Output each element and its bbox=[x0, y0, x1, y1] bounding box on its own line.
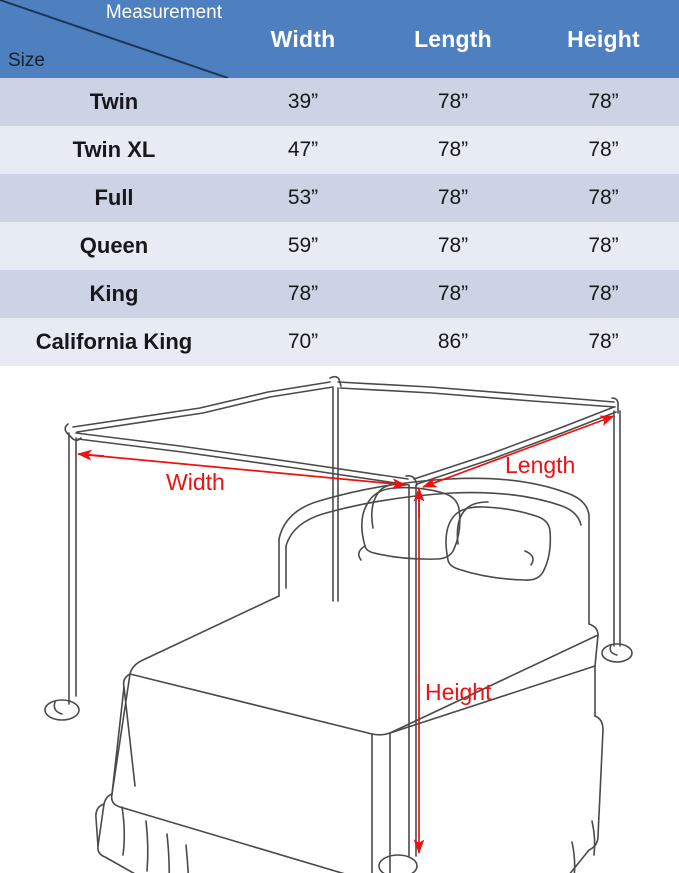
cell-length: 86” bbox=[378, 318, 528, 366]
cell-size: Queen bbox=[0, 222, 228, 270]
cell-height: 78” bbox=[528, 78, 679, 126]
bed-diagram-svg: Width Length Height bbox=[0, 366, 679, 873]
cell-height: 78” bbox=[528, 318, 679, 366]
cell-width: 47” bbox=[228, 126, 378, 174]
table-row: Queen 59” 78” 78” bbox=[0, 222, 679, 270]
table-row: King 78” 78” 78” bbox=[0, 270, 679, 318]
header-measurement-label: Measurement bbox=[106, 3, 222, 24]
cell-length: 78” bbox=[378, 174, 528, 222]
cell-width: 59” bbox=[228, 222, 378, 270]
cell-length: 78” bbox=[378, 222, 528, 270]
cell-size: Full bbox=[0, 174, 228, 222]
cell-width: 78” bbox=[228, 270, 378, 318]
bed-size-table: Measurement Size Width Length Height Twi… bbox=[0, 0, 679, 366]
cell-height: 78” bbox=[528, 270, 679, 318]
cell-size: King bbox=[0, 270, 228, 318]
bed-diagram: Width Length Height bbox=[0, 366, 679, 873]
header-col-width: Width bbox=[228, 0, 378, 78]
cell-length: 78” bbox=[378, 78, 528, 126]
cell-size: Twin XL bbox=[0, 126, 228, 174]
cell-height: 78” bbox=[528, 126, 679, 174]
table-row: Full 53” 78” 78” bbox=[0, 174, 679, 222]
height-label: Height bbox=[425, 679, 492, 705]
dimension-annotations: Width Length Height bbox=[78, 416, 614, 853]
table-row: Twin XL 47” 78” 78” bbox=[0, 126, 679, 174]
cell-height: 78” bbox=[528, 174, 679, 222]
cell-length: 78” bbox=[378, 126, 528, 174]
width-label: Width bbox=[166, 469, 225, 495]
width-dimension-arrow-start bbox=[78, 454, 104, 456]
cell-width: 53” bbox=[228, 174, 378, 222]
table-header: Measurement Size Width Length Height bbox=[0, 0, 679, 78]
size-chart-page: Measurement Size Width Length Height Twi… bbox=[0, 0, 679, 873]
table-row: California King 70” 86” 78” bbox=[0, 318, 679, 366]
header-corner-cell: Measurement Size bbox=[0, 0, 228, 78]
table-row: Twin 39” 78” 78” bbox=[0, 78, 679, 126]
cell-size: Twin bbox=[0, 78, 228, 126]
length-label: Length bbox=[505, 452, 575, 478]
header-col-height: Height bbox=[528, 0, 679, 78]
cell-height: 78” bbox=[528, 222, 679, 270]
table-body: Twin 39” 78” 78” Twin XL 47” 78” 78” Ful… bbox=[0, 78, 679, 366]
header-col-length: Length bbox=[378, 0, 528, 78]
length-dimension-arrow-start bbox=[423, 477, 450, 487]
width-dimension-line bbox=[78, 454, 406, 485]
cell-size: California King bbox=[0, 318, 228, 366]
header-size-label: Size bbox=[8, 51, 45, 72]
table-header-row: Measurement Size Width Length Height bbox=[0, 0, 679, 78]
cell-width: 70” bbox=[228, 318, 378, 366]
cell-width: 39” bbox=[228, 78, 378, 126]
cell-length: 78” bbox=[378, 270, 528, 318]
